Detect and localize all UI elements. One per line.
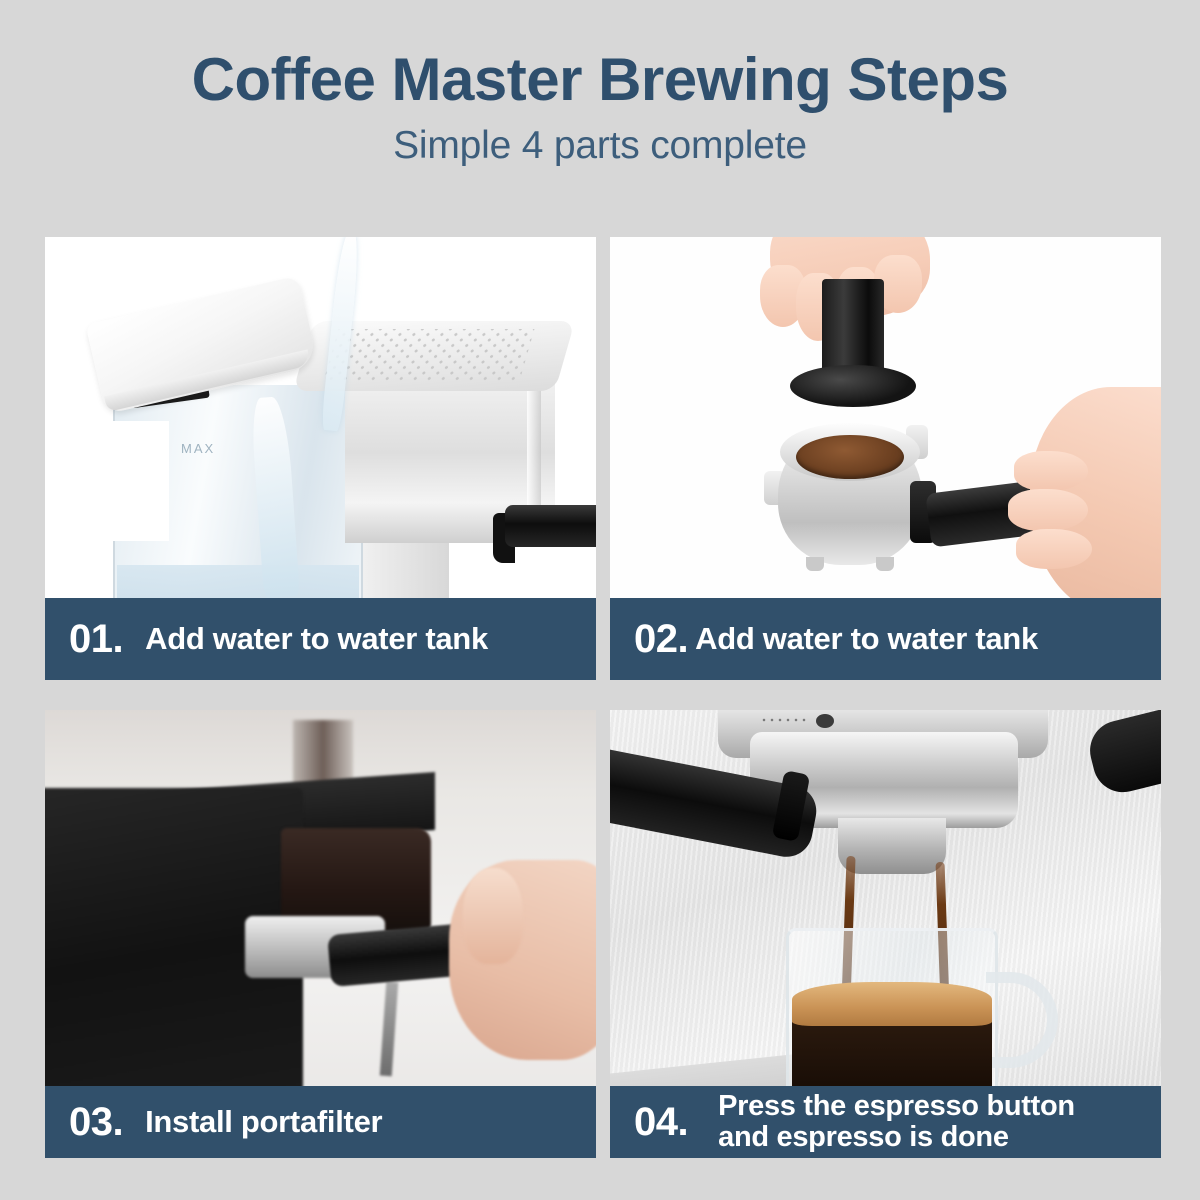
step-01-number: 01. (69, 617, 123, 662)
step-03-text: Install portafilter (145, 1105, 382, 1138)
steps-grid: MAX 01. Add water to water tank (45, 237, 1155, 1158)
step-04-text-line2: and espresso is done (718, 1121, 1009, 1153)
step-card-03[interactable]: 03. Install portafilter (45, 710, 596, 1158)
step-03-number: 03. (69, 1100, 123, 1145)
step-01-text: Add water to water tank (145, 622, 488, 655)
step-card-04[interactable]: 04. Press the espresso button and espres… (610, 710, 1161, 1158)
tamper-base (790, 365, 916, 407)
steam-wand (505, 505, 596, 547)
step-04-text: Press the espresso button and espresso i… (718, 1091, 1075, 1154)
step-card-02[interactable]: 02. Add water to water tank (610, 237, 1161, 680)
step-04-text-line1: Press the espresso button (718, 1090, 1075, 1122)
coffee-grounds (796, 435, 904, 479)
indicator-light (816, 714, 834, 728)
step-03-caption: 03. Install portafilter (45, 1086, 596, 1158)
crema-layer (792, 982, 992, 1026)
vent-dots-icon (760, 716, 806, 726)
step-04-number: 04. (634, 1100, 688, 1145)
step-card-01[interactable]: MAX 01. Add water to water tank (45, 237, 596, 680)
step-01-caption: 01. Add water to water tank (45, 598, 596, 680)
tank-max-marking: MAX (181, 441, 215, 456)
page-title: Coffee Master Brewing Steps (0, 48, 1200, 112)
step-02-caption: 02. Add water to water tank (610, 598, 1161, 680)
cup-warmer-grate (324, 329, 535, 381)
step-02-number: 02. (634, 617, 688, 662)
step-02-text: Add water to water tank (695, 622, 1038, 655)
thumb (463, 868, 523, 964)
step-04-caption: 04. Press the espresso button and espres… (610, 1086, 1161, 1158)
page-subtitle: Simple 4 parts complete (0, 124, 1200, 168)
page-header: Coffee Master Brewing Steps Simple 4 par… (0, 0, 1200, 168)
